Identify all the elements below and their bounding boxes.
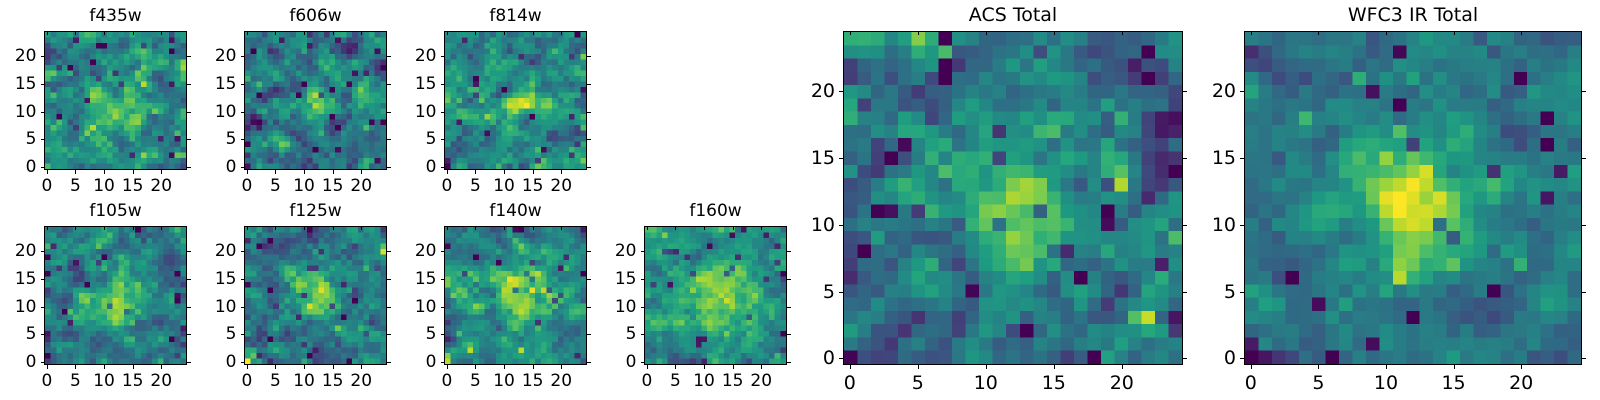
xtick-wfc3-ir-total-1	[1318, 365, 1319, 369]
heatmap-wfc3-ir-total	[1245, 32, 1581, 364]
xtick-top-wfc3-ir-total-1	[1318, 31, 1319, 35]
panel-title-wfc3-ir-total: WFC3 IR Total	[1244, 6, 1582, 25]
ytick-wfc3-ir-total-0	[1240, 358, 1244, 359]
ytick-right-wfc3-ir-total-4	[1582, 91, 1586, 92]
xtick-wfc3-ir-total-4	[1521, 365, 1522, 369]
panel-wfc3-ir-total: WFC3 IR Total0510152005101520	[0, 0, 1600, 400]
figure-canvas: f435w0510152005101520f606w05101520051015…	[0, 0, 1600, 400]
ytick-right-wfc3-ir-total-2	[1582, 225, 1586, 226]
xtick-top-wfc3-ir-total-4	[1521, 31, 1522, 35]
yticklabel-wfc3-ir-total-0: 0	[1166, 349, 1236, 368]
yticklabel-wfc3-ir-total-1: 5	[1166, 283, 1236, 302]
ytick-right-wfc3-ir-total-1	[1582, 292, 1586, 293]
yticklabel-wfc3-ir-total-3: 15	[1166, 149, 1236, 168]
yticklabel-wfc3-ir-total-2: 10	[1166, 216, 1236, 235]
xtick-wfc3-ir-total-0	[1251, 365, 1252, 369]
xticklabel-wfc3-ir-total-4: 20	[1491, 374, 1551, 393]
xticklabel-wfc3-ir-total-3: 15	[1424, 374, 1484, 393]
xtick-wfc3-ir-total-3	[1454, 365, 1455, 369]
xtick-top-wfc3-ir-total-0	[1251, 31, 1252, 35]
ytick-wfc3-ir-total-2	[1240, 225, 1244, 226]
xtick-top-wfc3-ir-total-3	[1454, 31, 1455, 35]
ytick-right-wfc3-ir-total-3	[1582, 158, 1586, 159]
xticklabel-wfc3-ir-total-1: 5	[1288, 374, 1348, 393]
xticklabel-wfc3-ir-total-0: 0	[1221, 374, 1281, 393]
xticklabel-wfc3-ir-total-2: 10	[1356, 374, 1416, 393]
xtick-wfc3-ir-total-2	[1386, 365, 1387, 369]
ytick-wfc3-ir-total-1	[1240, 292, 1244, 293]
ytick-wfc3-ir-total-4	[1240, 91, 1244, 92]
axes-wfc3-ir-total	[1244, 31, 1582, 365]
yticklabel-wfc3-ir-total-4: 20	[1166, 82, 1236, 101]
xtick-top-wfc3-ir-total-2	[1386, 31, 1387, 35]
ytick-right-wfc3-ir-total-0	[1582, 358, 1586, 359]
ytick-wfc3-ir-total-3	[1240, 158, 1244, 159]
